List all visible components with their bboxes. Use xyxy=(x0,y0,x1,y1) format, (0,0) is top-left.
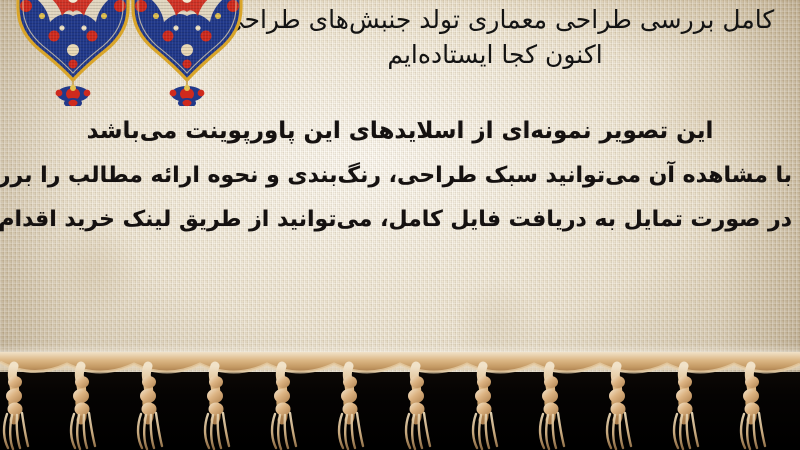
persian-medallion-left xyxy=(14,0,132,110)
body-line-1: این تصویر نمونه‌ای از اسلایدهای این پاور… xyxy=(8,108,792,154)
title-line-2: اکنون کجا ایستاده‌ایم xyxy=(200,37,790,72)
persian-medallion-right xyxy=(130,0,244,110)
title-line-1: کامل بررسی طراحی معماری تولد جنبش‌های طر… xyxy=(200,2,790,37)
carpet-fringe-border xyxy=(0,352,800,450)
slide-body: این تصویر نمونه‌ای از اسلایدهای این پاور… xyxy=(8,108,792,242)
slide-title: کامل بررسی طراحی معماری تولد جنبش‌های طر… xyxy=(200,2,790,72)
slide-canvas: کامل بررسی طراحی معماری تولد جنبش‌های طر… xyxy=(0,0,800,450)
body-line-2: با مشاهده آن می‌توانید سبک طراحی، رنگ‌بن… xyxy=(8,154,792,198)
body-line-3: در صورت تمایل به دریافت فایل کامل، می‌تو… xyxy=(8,198,792,242)
